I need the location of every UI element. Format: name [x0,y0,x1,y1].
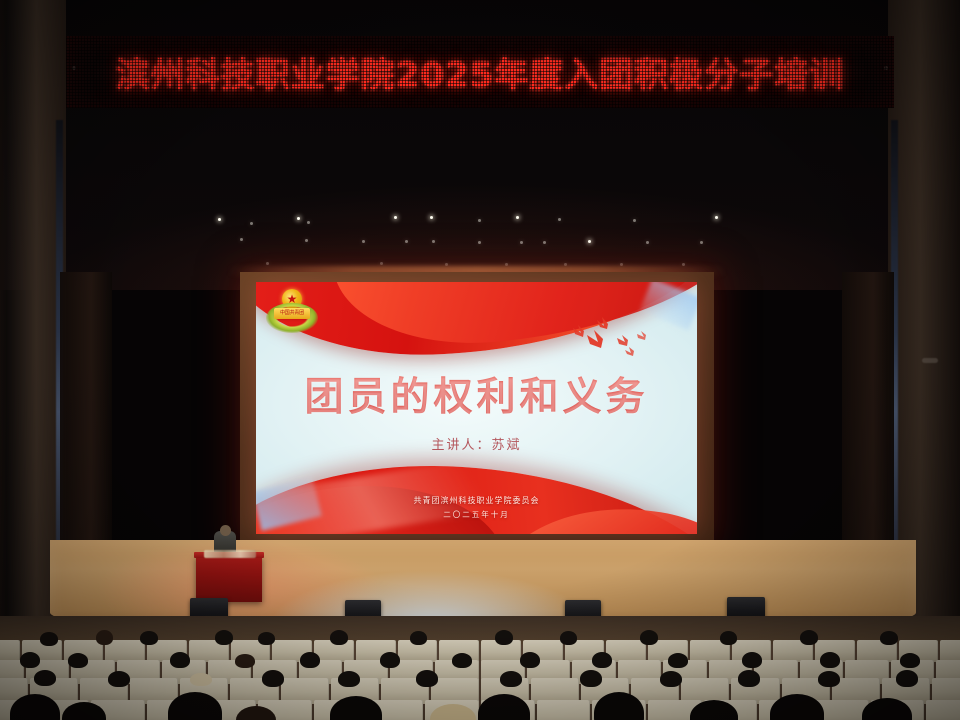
audience-head [416,670,438,687]
ceiling-light [362,240,365,243]
stage-curtain-right [842,272,894,562]
audience-head [896,670,918,687]
audience-head [452,653,472,668]
audience-head [900,653,920,668]
ceiling-light [516,216,519,219]
seat[interactable] [0,640,20,662]
ceiling-light [266,262,269,265]
ceiling-light [588,240,591,243]
audience-head [235,654,255,668]
audience-head [170,652,190,668]
audience-head [818,671,840,687]
audience-head [580,670,602,687]
seat[interactable] [606,640,646,662]
ceiling-light [543,241,546,244]
slide-date: 二〇二五年十月 [256,509,697,520]
audience-head [660,671,682,687]
audience-head [338,671,360,687]
ceiling-light [240,238,243,241]
seat[interactable] [105,640,145,662]
audience-head [495,630,513,645]
auditorium-scene: 滨州科技职业学院2025年度入团积极分子培训 [0,0,960,720]
ceiling-light [218,218,221,221]
led-banner: 滨州科技职业学院2025年度入团积极分子培训 [66,36,894,108]
ceiling-light [307,221,310,224]
ceiling-light [430,216,433,219]
audience-head [668,653,688,668]
speaker-head [220,525,231,536]
ceiling-light [250,222,253,225]
ceiling-light [646,241,649,244]
seat[interactable] [537,700,591,720]
slide-presenter: 主讲人：苏斌 [256,434,697,453]
audience-head [34,670,56,686]
ceiling-light [715,216,718,219]
audience-head [738,670,760,687]
audience-head [560,631,577,645]
audience-head [140,631,158,645]
ceiling-light [432,240,435,243]
audience-head [300,652,320,668]
desk-items [204,550,256,558]
audience-head [258,632,275,645]
audience-area [0,616,960,720]
youth-league-emblem-icon [266,289,318,333]
audience-head [330,630,348,645]
ceiling-light [558,218,561,221]
audience-head [500,671,522,687]
ceiling-light [700,241,703,244]
audience-head [410,631,427,645]
audience-head [800,630,818,645]
audience-head [380,652,400,668]
audience-head [20,652,40,668]
slide-footer: 共青团滨州科技职业学院委员会 二〇二五年十月 [256,495,697,520]
audience-head [262,670,284,687]
audience-head [592,652,612,668]
speaker-table [196,556,262,602]
ceiling-light [305,239,308,242]
ceiling-light [297,217,300,220]
audience-head [720,631,737,645]
ceiling-light [405,240,408,243]
seat[interactable] [926,700,960,720]
led-banner-text: 滨州科技职业学院2025年度入团积极分子培训 [66,48,894,97]
ceiling-light [478,241,481,244]
door-handle[interactable] [922,358,938,363]
audience-head [215,630,233,645]
slide-organization: 共青团滨州科技职业学院委员会 [256,495,697,506]
audience-head [520,652,540,668]
ceiling-light [633,219,636,222]
audience-head [190,673,212,686]
audience-head [96,630,113,645]
ceiling-light [380,262,383,265]
audience-head [68,653,88,668]
ceiling-light [478,219,481,222]
audience-head [40,632,58,646]
stage-curtain-left [60,272,112,562]
seat[interactable] [940,640,960,662]
emblem-banner [274,308,310,319]
projection-screen[interactable]: 团员的权利和义务 主讲人：苏斌 共青团滨州科技职业学院委员会 二〇二五年十月 [256,282,697,534]
ceiling-light [394,216,397,219]
audience-head [880,631,898,645]
audience-head [108,671,130,687]
audience-head [640,630,658,645]
audience-head [742,652,762,668]
audience-head [820,652,840,668]
slide-title: 团员的权利和义务 [256,366,697,422]
doves-icon [565,304,675,362]
ceiling-light [520,241,523,244]
